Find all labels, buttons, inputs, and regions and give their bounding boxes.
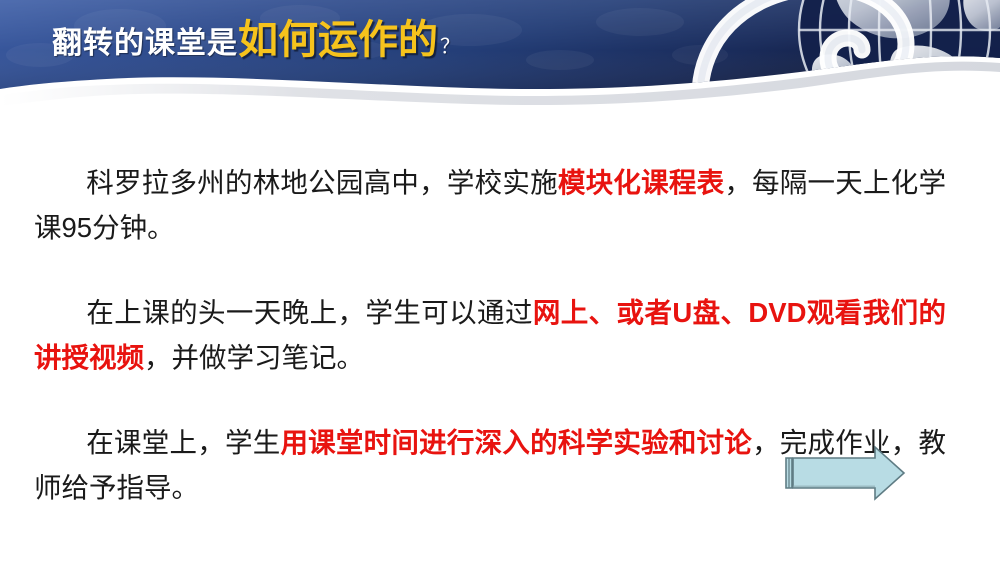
paragraph-2-segment-1: 在上课的头一天晚上，学生可以通过: [86, 297, 533, 328]
paragraph-1-highlight: 模块化课程表: [558, 167, 724, 198]
paragraph-3-highlight: 用课堂时间进行深入的科学实验和讨论: [280, 427, 752, 458]
paragraph-3-segment-1: 在课堂上，学生: [86, 427, 280, 458]
title-question-mark: ？: [440, 36, 460, 58]
right-arrow-icon: [783, 445, 907, 501]
title-highlight: 如何运作的: [238, 18, 438, 62]
arrow-body: [793, 447, 904, 499]
paragraph-1: 科罗拉多州的林地公园高中，学校实施模块化课程表，每隔一天上化学课95分钟。: [34, 160, 946, 250]
slide-canvas: 翻转的课堂是如何运作的？ 科罗拉多州的林地公园高中，学校实施模块化课程表，每隔一…: [0, 0, 1000, 562]
paragraph-1-segment-1: 科罗拉多州的林地公园高中，学校实施: [86, 167, 558, 198]
slide-title: 翻转的课堂是如何运作的？: [52, 20, 460, 60]
title-prefix: 翻转的课堂是: [52, 27, 238, 60]
paragraph-2: 在上课的头一天晚上，学生可以通过网上、或者U盘、DVD观看我们的讲授视频，并做学…: [34, 290, 946, 380]
paragraph-2-segment-3: ，并做学习笔记。: [144, 342, 364, 373]
title-banner: 翻转的课堂是如何运作的？: [0, 0, 1000, 112]
